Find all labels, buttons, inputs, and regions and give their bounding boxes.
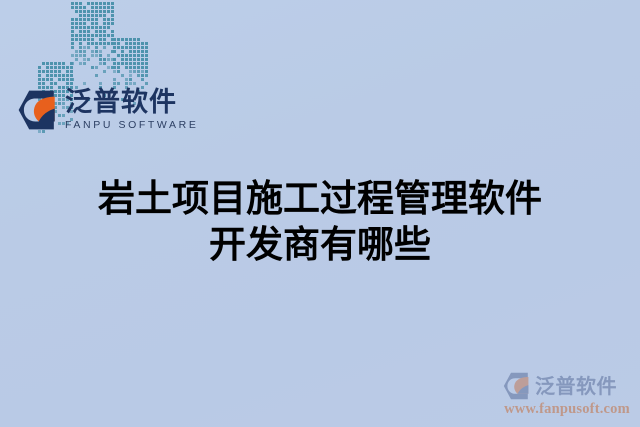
watermark-name-cn: 泛普软件 [535,376,617,397]
brand-wordmark: 泛普软件 FANPU SOFTWARE [65,89,198,131]
fanpu-logo-mark-watermark-icon [502,371,532,401]
page-title: 岩土项目施工过程管理软件 开发商有哪些 [0,176,640,268]
brand-lockup: 泛普软件 FANPU SOFTWARE [16,86,198,134]
watermark: 泛普软件 www.fanpusoft.com [502,371,632,417]
watermark-url: www.fanpusoft.com [502,401,632,417]
brand-name-cn: 泛普软件 [65,89,198,117]
fanpu-logo-mark-icon [16,88,60,132]
pixel-city-skyline-icon [38,2,142,82]
page-title-line-1: 岩土项目施工过程管理软件 [0,176,640,222]
watermark-lockup: 泛普软件 [502,371,632,401]
poster-canvas: 泛普软件 FANPU SOFTWARE 岩土项目施工过程管理软件 开发商有哪些 … [0,0,640,427]
brand-name-en: FANPU SOFTWARE [65,119,198,131]
page-title-line-2: 开发商有哪些 [0,222,640,268]
